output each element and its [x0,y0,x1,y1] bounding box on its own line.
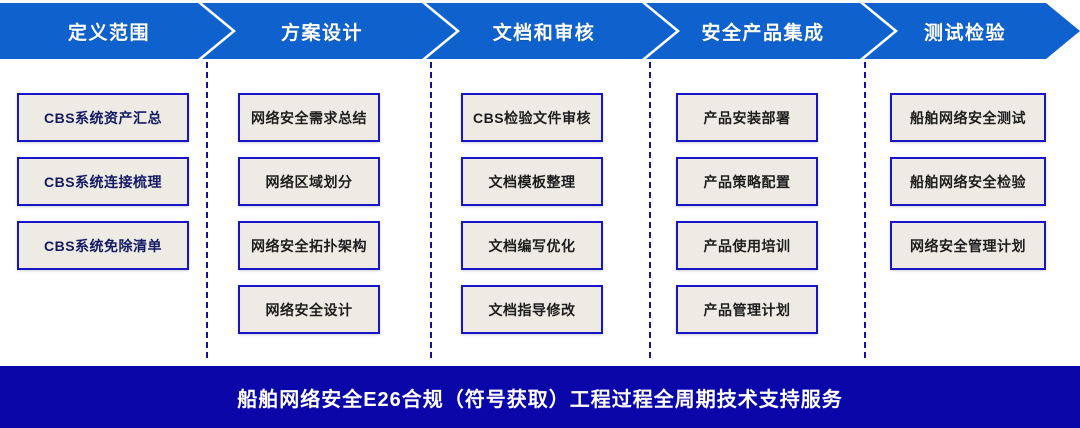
task-box[interactable]: CBS检验文件审核 [461,93,603,142]
column-separator-2 [430,62,432,358]
task-box[interactable]: 产品策略配置 [676,157,818,206]
task-box[interactable]: 网络安全管理计划 [890,221,1046,270]
task-box[interactable]: 网络安全拓扑架构 [238,221,380,270]
task-box[interactable]: 产品管理计划 [676,285,818,334]
task-box[interactable]: CBS系统免除清单 [17,221,189,270]
task-box[interactable]: 文档模板整理 [461,157,603,206]
task-box[interactable]: 产品安装部署 [676,93,818,142]
column-separator-3 [649,62,651,358]
phase-header-3[interactable]: 文档和审核 [426,3,676,59]
column-separator-4 [864,62,866,358]
task-box[interactable]: 船舶网络安全检验 [890,157,1046,206]
footer-banner: 船舶网络安全E26合规（符号获取）工程过程全周期技术支持服务 [0,366,1080,428]
task-box[interactable]: 产品使用培训 [676,221,818,270]
phase-column-3: CBS检验文件审核 文档模板整理 文档编写优化 文档指导修改 [461,62,603,358]
phase-column-4: 产品安装部署 产品策略配置 产品使用培训 产品管理计划 [676,62,818,358]
phase-header-label-3: 文档和审核 [493,18,610,45]
phase-column-2: 网络安全需求总结 网络区域划分 网络安全拓扑架构 网络安全设计 [238,62,380,358]
task-box[interactable]: 网络安全需求总结 [238,93,380,142]
phase-header-label-5: 测试检验 [924,18,1020,45]
task-box[interactable]: 船舶网络安全测试 [890,93,1046,142]
task-box[interactable]: 文档编写优化 [461,221,603,270]
phase-header-label-2: 方案设计 [281,18,377,45]
phase-header-band: 定义范围 方案设计 文档和审核 安全产品集成 测试检验 [0,0,1080,62]
task-box[interactable]: 网络安全设计 [238,285,380,334]
phase-header-1[interactable]: 定义范围 [0,3,232,59]
phase-column-1: CBS系统资产汇总 CBS系统连接梳理 CBS系统免除清单 [17,62,189,358]
phase-header-5[interactable]: 测试检验 [864,3,1080,59]
task-box[interactable]: CBS系统连接梳理 [17,157,189,206]
phase-header-label-1: 定义范围 [68,18,164,45]
footer-banner-text: 船舶网络安全E26合规（符号获取）工程过程全周期技术支持服务 [237,383,843,412]
task-box[interactable]: 网络区域划分 [238,157,380,206]
phase-header-2[interactable]: 方案设计 [202,3,456,59]
phase-header-4[interactable]: 安全产品集成 [646,3,894,59]
phase-column-5: 船舶网络安全测试 船舶网络安全检验 网络安全管理计划 [890,62,1046,358]
phase-header-label-4: 安全产品集成 [701,18,838,45]
task-box[interactable]: CBS系统资产汇总 [17,93,189,142]
column-separator-1 [206,62,208,358]
task-box[interactable]: 文档指导修改 [461,285,603,334]
process-diagram: 定义范围 方案设计 文档和审核 安全产品集成 测试检验 CBS系统资产汇总 CB… [0,0,1080,428]
